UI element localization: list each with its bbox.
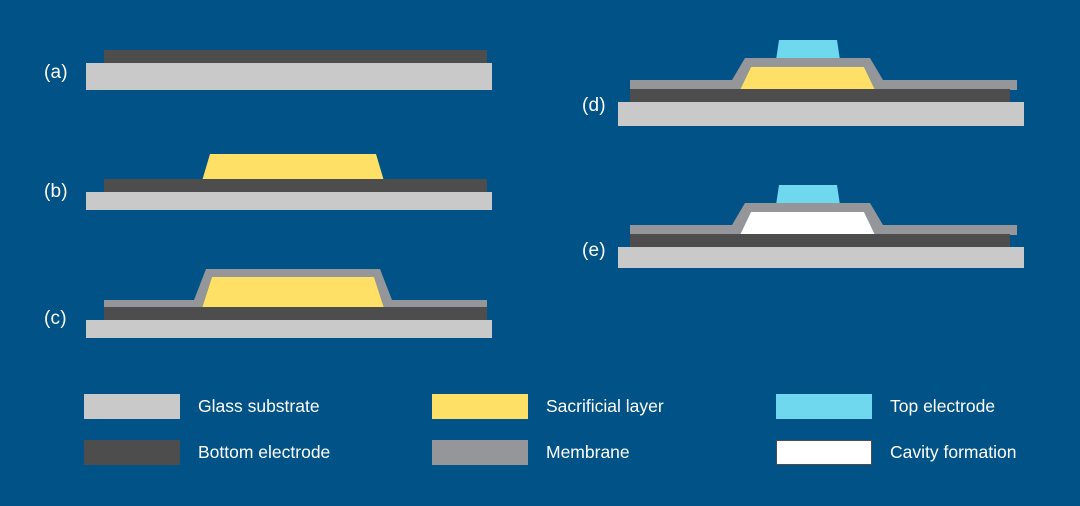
panel-a-diagram	[86, 50, 496, 95]
bottom-electrode-c	[104, 307, 487, 321]
legend-item-glass-substrate: Glass substrate	[84, 394, 320, 419]
panel-label-b: (b)	[44, 181, 68, 203]
panel-label-a: (a)	[44, 62, 68, 84]
legend-swatch-glass-substrate	[84, 394, 180, 419]
legend-item-cavity-formation: Cavity formation	[776, 440, 1016, 465]
sacrificial-layer-b	[202, 154, 384, 181]
panel-c-diagram	[86, 262, 496, 338]
glass-substrate-a	[86, 63, 492, 90]
panel-d-diagram	[618, 36, 1030, 126]
legend-item-sacrificial-layer: Sacrificial layer	[432, 394, 664, 419]
glass-substrate-e	[618, 247, 1024, 268]
legend-swatch-bottom-electrode	[84, 440, 180, 465]
figure-canvas: (a) (b) (c) (d) (e) Glass	[0, 0, 1080, 506]
legend-swatch-top-electrode	[776, 394, 872, 419]
glass-substrate-c	[86, 320, 492, 338]
top-electrode-e	[776, 185, 840, 205]
panel-label-c: (c)	[44, 308, 67, 330]
legend-item-top-electrode: Top electrode	[776, 394, 995, 419]
legend-label-top-electrode: Top electrode	[890, 396, 995, 417]
bottom-electrode-a	[104, 50, 487, 64]
panel-b-diagram	[86, 148, 496, 210]
legend-item-membrane: Membrane	[432, 440, 630, 465]
panel-e-diagram	[618, 182, 1030, 268]
legend-label-bottom-electrode: Bottom electrode	[198, 442, 330, 463]
bottom-electrode-e	[630, 234, 1010, 248]
legend-swatch-sacrificial-layer	[432, 394, 528, 419]
glass-substrate-b	[86, 192, 492, 210]
legend-swatch-membrane	[432, 440, 528, 465]
bottom-electrode-b	[104, 179, 487, 193]
legend-label-membrane: Membrane	[546, 442, 630, 463]
panel-label-e: (e)	[582, 240, 606, 262]
top-electrode-d	[776, 40, 840, 60]
sacrificial-layer-c	[202, 277, 384, 308]
legend-label-sacrificial-layer: Sacrificial layer	[546, 396, 664, 417]
panel-label-d: (d)	[582, 95, 606, 117]
legend-label-cavity-formation: Cavity formation	[890, 442, 1016, 463]
glass-substrate-d	[618, 102, 1024, 126]
cavity-e	[740, 212, 875, 235]
legend-label-glass-substrate: Glass substrate	[198, 396, 320, 417]
legend-item-bottom-electrode: Bottom electrode	[84, 440, 330, 465]
sacrificial-layer-d	[740, 67, 875, 90]
legend-swatch-cavity-formation	[776, 440, 872, 465]
bottom-electrode-d	[630, 89, 1010, 103]
